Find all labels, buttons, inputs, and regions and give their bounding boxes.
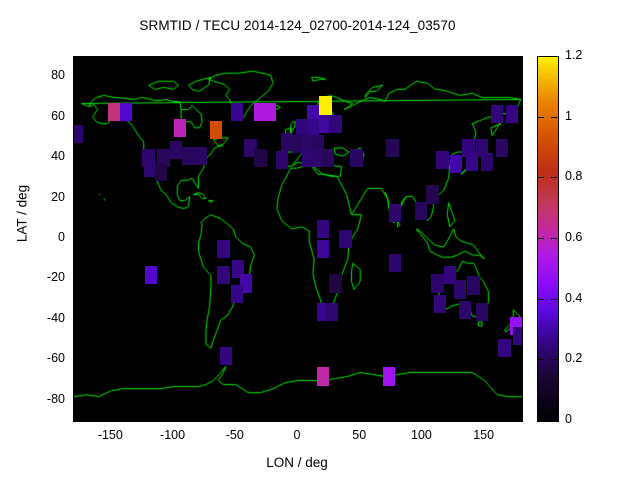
data-marker xyxy=(231,103,243,121)
data-marker xyxy=(174,119,186,137)
data-marker xyxy=(467,276,479,294)
data-marker xyxy=(498,339,510,357)
colorbar-tick-mark xyxy=(551,359,557,360)
data-marker xyxy=(108,103,120,121)
colorbar-tick-label: 0.6 xyxy=(565,230,582,244)
data-marker xyxy=(325,303,337,321)
data-marker xyxy=(210,121,222,139)
data-marker xyxy=(329,274,341,292)
colorbar-tick-label: 0.4 xyxy=(565,291,582,305)
y-tick-label: -20 xyxy=(19,270,65,284)
data-marker xyxy=(182,147,194,165)
data-marker xyxy=(383,367,395,385)
y-tick-label: -60 xyxy=(19,351,65,365)
colorbar-gradient xyxy=(538,57,558,421)
x-tick-label: 50 xyxy=(329,428,389,442)
data-marker xyxy=(155,163,167,181)
colorbar-tick-label: 0.8 xyxy=(565,169,582,183)
data-marker-layer xyxy=(74,57,522,421)
colorbar-tick-label: 0.2 xyxy=(565,351,582,365)
data-marker xyxy=(476,139,488,157)
y-tick-label: -80 xyxy=(19,392,65,406)
data-marker xyxy=(386,139,398,157)
x-axis-label: LON / deg xyxy=(73,455,521,470)
colorbar-tick-mark xyxy=(551,238,557,239)
y-tick-label: 80 xyxy=(19,68,65,82)
colorbar-tick-mark xyxy=(538,238,544,239)
colorbar-tick-mark xyxy=(538,299,544,300)
colorbar-tick-mark xyxy=(538,177,544,178)
data-marker xyxy=(217,266,229,284)
data-marker xyxy=(317,240,329,258)
data-marker xyxy=(339,230,351,248)
data-marker xyxy=(389,254,401,272)
x-tick-label: 150 xyxy=(454,428,514,442)
data-marker xyxy=(231,285,243,303)
data-marker xyxy=(436,151,448,169)
data-marker xyxy=(73,125,83,143)
page-title: SRMTID / TECU 2014-124_02700-2014-124_03… xyxy=(0,18,595,33)
colorbar xyxy=(537,56,559,422)
data-marker xyxy=(317,367,329,385)
data-marker xyxy=(329,115,341,133)
data-marker xyxy=(350,149,362,167)
data-marker xyxy=(319,96,331,114)
x-tick-label: -100 xyxy=(143,428,203,442)
data-marker xyxy=(217,240,229,258)
data-marker xyxy=(415,202,427,220)
data-marker xyxy=(220,347,232,365)
y-tick-label: 0 xyxy=(19,230,65,244)
y-tick-label: 60 xyxy=(19,109,65,123)
figure-canvas: SRMTID / TECU 2014-124_02700-2014-124_03… xyxy=(0,0,640,480)
colorbar-tick-label: 0 xyxy=(565,412,572,426)
data-marker xyxy=(322,149,334,167)
data-marker xyxy=(170,141,182,159)
data-marker xyxy=(263,103,275,121)
data-marker xyxy=(276,151,288,169)
data-marker xyxy=(120,103,132,121)
data-marker xyxy=(506,105,518,123)
colorbar-tick-mark xyxy=(538,117,544,118)
colorbar-tick-mark xyxy=(538,359,544,360)
y-tick-label: 20 xyxy=(19,190,65,204)
data-marker xyxy=(389,204,401,222)
y-tick-label: 40 xyxy=(19,149,65,163)
data-marker xyxy=(450,155,462,173)
data-marker xyxy=(491,105,503,123)
colorbar-tick-mark xyxy=(551,299,557,300)
x-tick-label: -150 xyxy=(80,428,140,442)
x-tick-label: -50 xyxy=(205,428,265,442)
colorbar-tick-label: 1 xyxy=(565,109,572,123)
data-marker xyxy=(254,149,266,167)
data-marker xyxy=(513,327,523,345)
x-tick-label: 100 xyxy=(391,428,451,442)
map-plot-area[interactable] xyxy=(73,56,523,422)
data-marker xyxy=(454,280,466,298)
data-marker xyxy=(496,139,508,157)
colorbar-tick-label: 1.2 xyxy=(565,48,582,62)
colorbar-tick-mark xyxy=(551,177,557,178)
x-tick-label: 0 xyxy=(267,428,327,442)
colorbar-tick-mark xyxy=(551,117,557,118)
data-marker xyxy=(145,266,157,284)
y-tick-label: -40 xyxy=(19,311,65,325)
data-marker xyxy=(476,303,488,321)
data-marker xyxy=(431,274,443,292)
data-marker xyxy=(426,185,438,203)
data-marker xyxy=(195,147,207,165)
data-marker xyxy=(462,139,474,157)
data-marker xyxy=(317,220,329,238)
data-marker xyxy=(434,295,446,313)
data-marker xyxy=(459,301,471,319)
y-axis-label: LAT / deg xyxy=(15,159,30,269)
